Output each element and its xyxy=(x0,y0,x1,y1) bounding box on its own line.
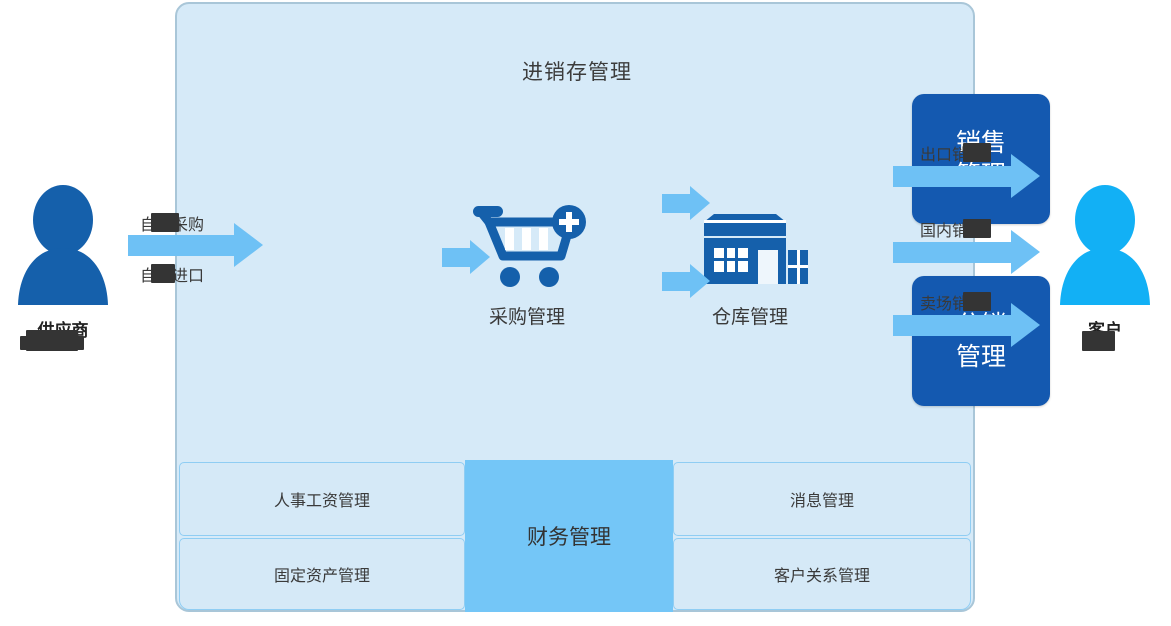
redaction-box-export-sales xyxy=(963,143,991,162)
erp-container: 进销存管理 采购管理 xyxy=(175,2,975,612)
redaction-box-customer xyxy=(1082,331,1115,351)
hr-payroll-label: 人事工资管理 xyxy=(274,487,370,511)
finance-management-label: 财务管理 xyxy=(527,521,611,551)
supplier-actor: 供应商 xyxy=(0,183,128,341)
redaction-box-store-sales xyxy=(963,292,991,311)
page-title: 进销存管理 xyxy=(177,56,977,86)
redaction-box-domestic-sales xyxy=(963,219,991,238)
distribution-management-line2: 管理 xyxy=(956,341,1006,373)
crm-module[interactable]: 客户关系管理 xyxy=(673,538,971,610)
finance-management-module[interactable]: 财务管理 xyxy=(465,460,673,612)
redaction-box-supplier-2 xyxy=(20,336,84,350)
purchase-management-label: 采购管理 xyxy=(452,302,602,329)
message-management-label: 消息管理 xyxy=(790,487,854,511)
crm-label: 客户关系管理 xyxy=(774,562,870,586)
redaction-box-procurement xyxy=(151,213,179,232)
warehouse-management-label: 仓库管理 xyxy=(675,302,825,329)
hr-payroll-module[interactable]: 人事工资管理 xyxy=(179,462,465,536)
customer-actor: 客户 xyxy=(1040,183,1170,341)
fixed-assets-label: 固定资产管理 xyxy=(274,562,370,586)
message-management-module[interactable]: 消息管理 xyxy=(673,462,971,536)
bottom-modules-strip: 人事工资管理 固定资产管理 财务管理 消息管理 客户关系管理 xyxy=(177,460,973,612)
person-icon xyxy=(13,183,113,308)
person-icon xyxy=(1055,183,1155,308)
fixed-assets-module[interactable]: 固定资产管理 xyxy=(179,538,465,610)
redaction-box-import xyxy=(151,264,175,283)
